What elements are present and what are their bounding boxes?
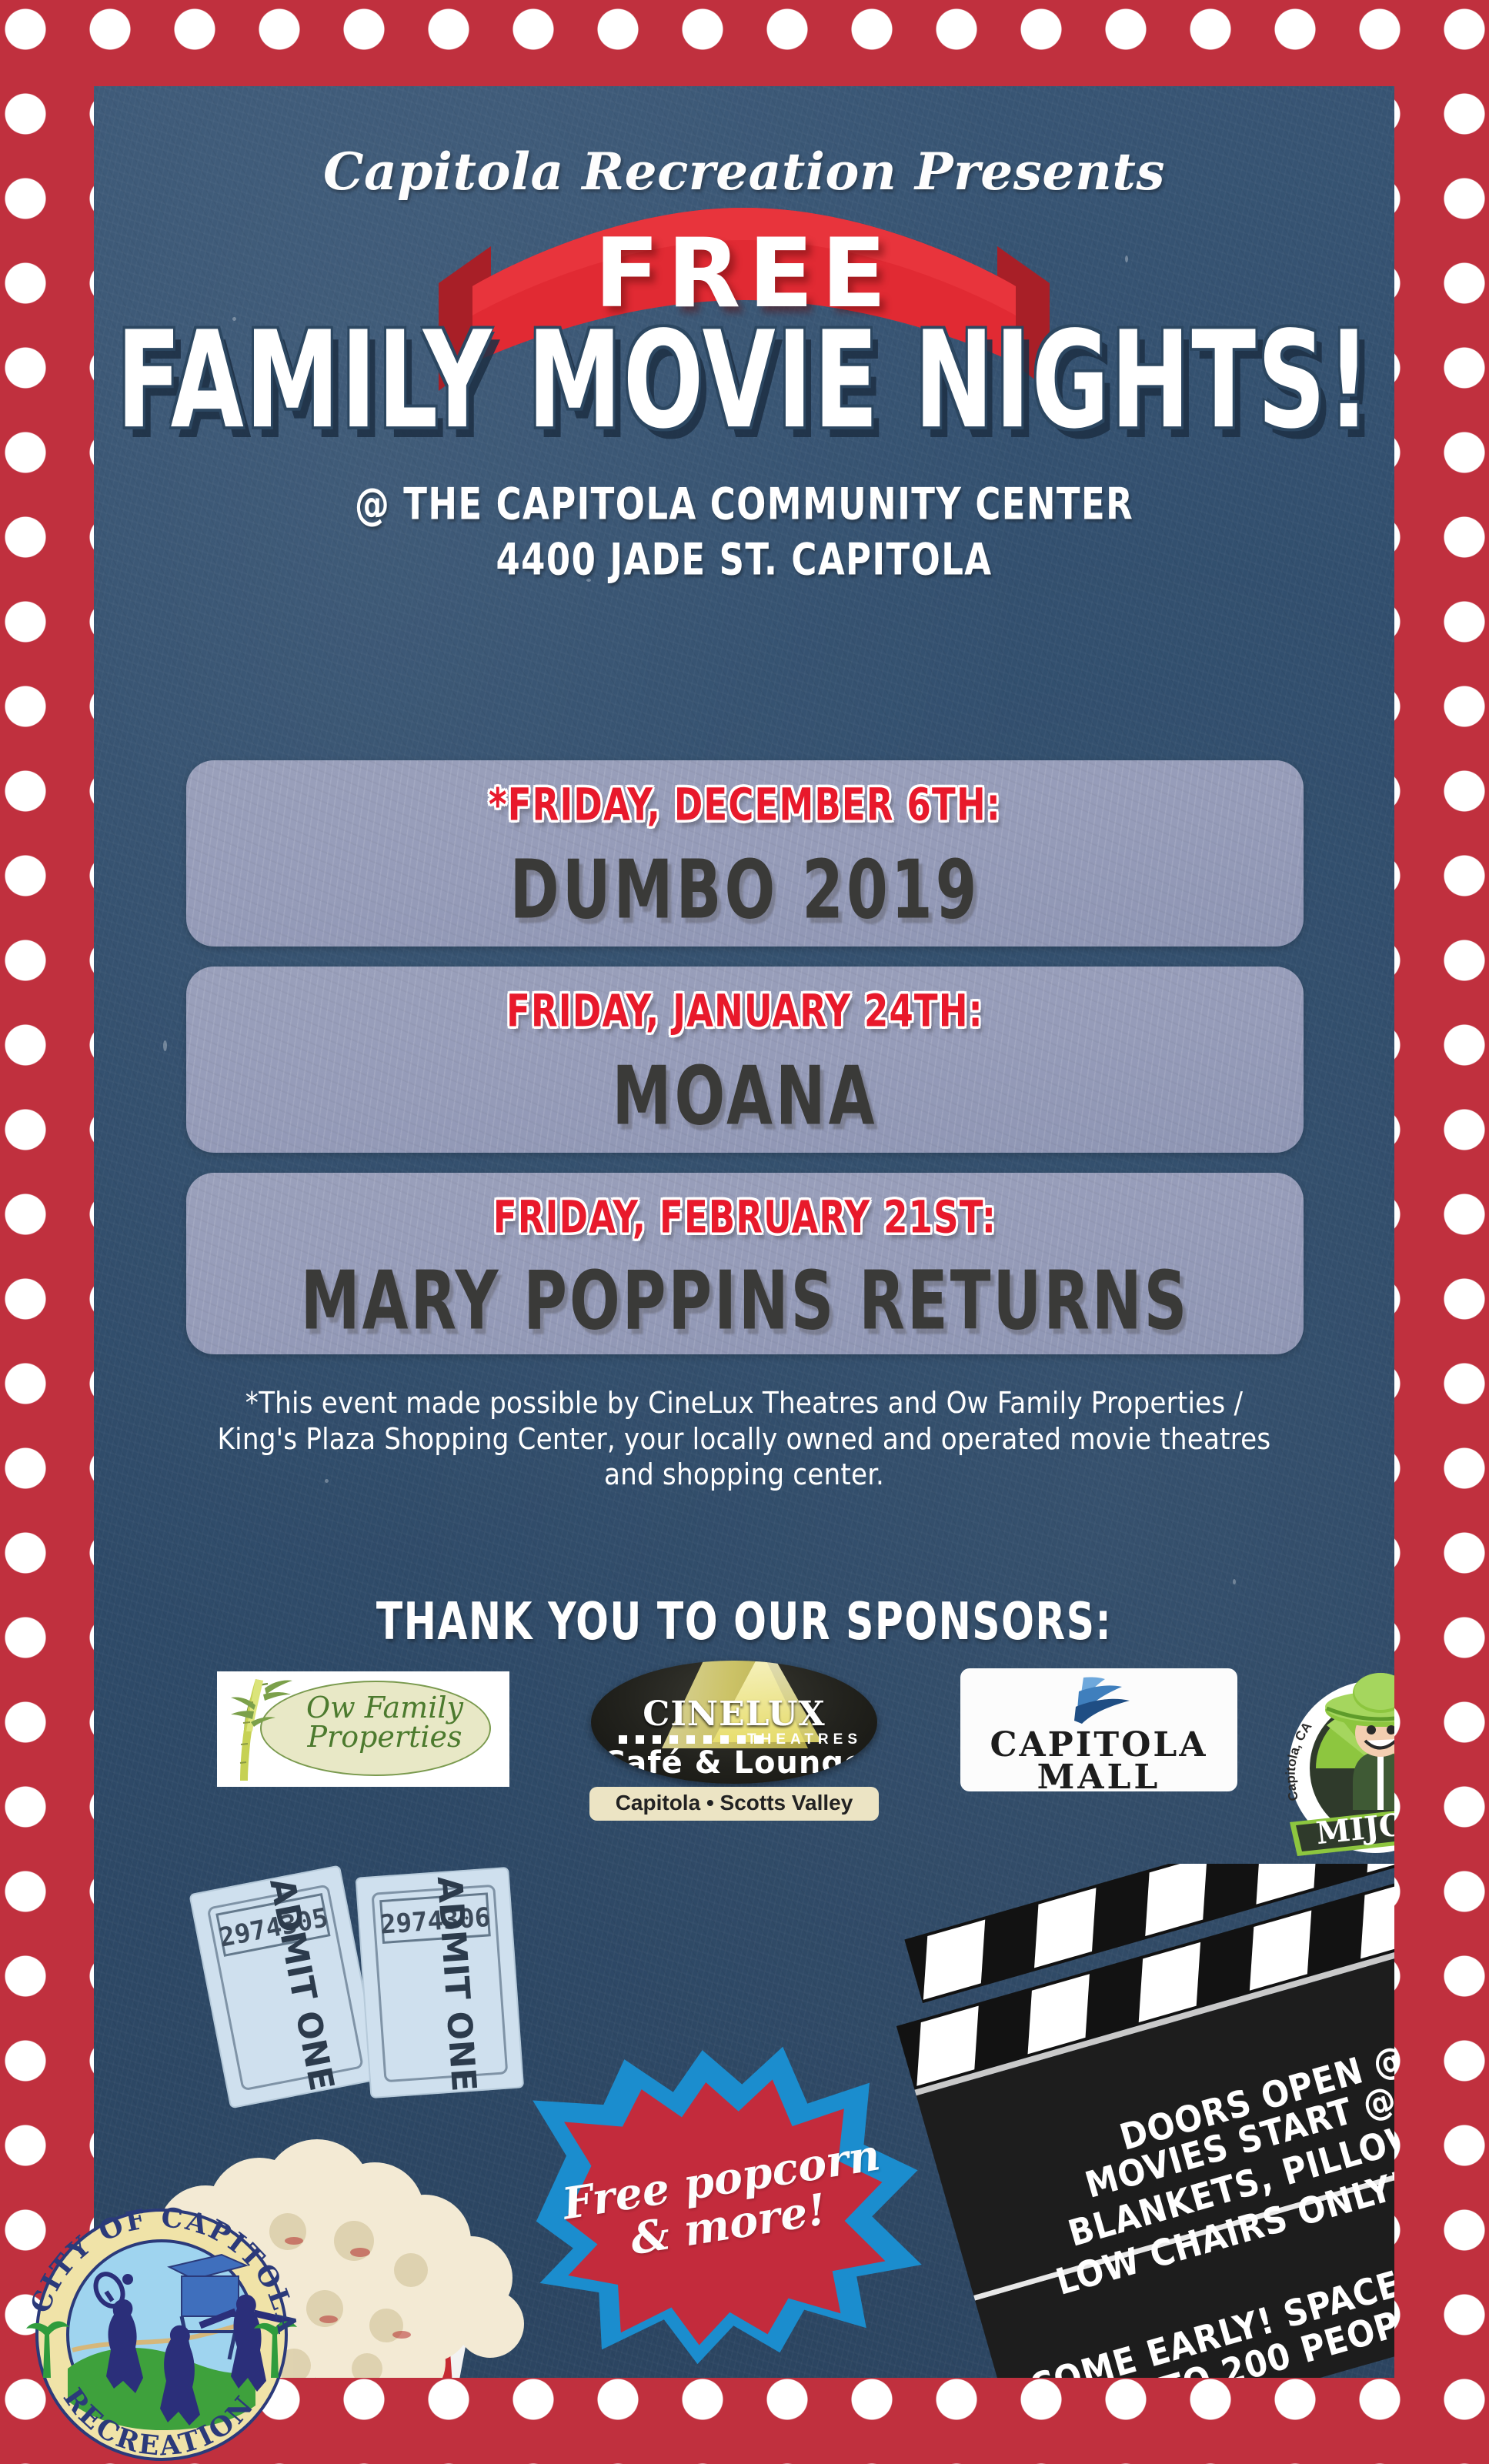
- mijos-badge-icon: MIJO'S Capitola, CA: [1279, 1659, 1394, 1867]
- sponsor-footnote: *This event made possible by CineLux The…: [205, 1385, 1283, 1493]
- cinelux-cities: Capitola • Scotts Valley: [589, 1787, 879, 1821]
- cinelux-cafe-label: Café & Lounge: [591, 1745, 877, 1781]
- movie-title: DUMBO 2019: [217, 843, 1273, 937]
- venue-block: @ THE CAPITOLA COMMUNITY CENTER 4400 JAD…: [94, 477, 1394, 588]
- movie-title: MOANA: [217, 1050, 1273, 1144]
- footnote-marker: *: [489, 779, 508, 830]
- movie-card[interactable]: FRIDAY, FEBRUARY 21ST: MARY POPPINS RETU…: [186, 1173, 1304, 1354]
- mall-line-2: MALL: [960, 1758, 1237, 1797]
- movie-date: FRIDAY, JANUARY 24TH:: [217, 985, 1273, 1037]
- film-perforation-icon: [619, 1735, 765, 1744]
- movie-poster: Capitola Recreation Presents FREE FAMILY…: [0, 0, 1489, 2464]
- movie-date-text: FRIDAY, DECEMBER 6TH:: [508, 779, 1001, 830]
- sponsor-logos: Ow Family Properties CINELUX THEATRES Ca…: [202, 1665, 1394, 1873]
- movie-card[interactable]: FRIDAY, JANUARY 24TH: MOANA: [186, 967, 1304, 1153]
- poster-panel: Capitola Recreation Presents FREE FAMILY…: [94, 86, 1394, 2378]
- clapperboard: DOORS OPEN @ 6 PM MOVIES START @ 6:30 PM…: [856, 1864, 1394, 2378]
- cinelux-oval: CINELUX THEATRES Café & Lounge: [591, 1661, 877, 1784]
- presents-line: Capitola Recreation Presents: [94, 142, 1394, 202]
- mall-swoosh-icon: [1059, 1676, 1143, 1724]
- free-popcorn-burst: Free popcorn & more!: [525, 2041, 925, 2364]
- movie-date-text: FRIDAY, JANUARY 24TH:: [506, 985, 983, 1037]
- city-of-capitola-recreation-seal: CITY OF CAPITOLA RECREATION: [15, 2199, 308, 2464]
- movie-date-text: FRIDAY, FEBRUARY 21ST:: [493, 1191, 997, 1243]
- movie-card[interactable]: *FRIDAY, DECEMBER 6TH: DUMBO 2019: [186, 760, 1304, 947]
- movie-title: MARY POPPINS RETURNS: [209, 1254, 1280, 1348]
- movie-schedule-list: *FRIDAY, DECEMBER 6TH: DUMBO 2019 FRIDAY…: [186, 760, 1304, 1354]
- venue-line-1: @ THE CAPITOLA COMMUNITY CENTER: [94, 477, 1394, 533]
- cinelux-logo[interactable]: CINELUX THEATRES Café & Lounge Capitola …: [585, 1653, 885, 1819]
- mijos-logo[interactable]: MIJO'S Capitola, CA: [1279, 1659, 1394, 1867]
- clapperboard-shape: [856, 1864, 1394, 2378]
- burst-shape: [525, 2041, 925, 2364]
- cinelux-name: CINELUX: [591, 1694, 877, 1734]
- venue-line-2: 4400 JADE ST. CAPITOLA: [94, 533, 1394, 588]
- sponsors-heading: THANK YOU TO OUR SPONSORS:: [94, 1592, 1394, 1652]
- capitola-mall-logo[interactable]: CAPITOLA MALL: [960, 1668, 1237, 1791]
- ow-line-2: Properties: [277, 1722, 492, 1751]
- movie-date: FRIDAY, FEBRUARY 21ST:: [209, 1191, 1280, 1243]
- ow-line-1: Ow Family: [277, 1693, 492, 1722]
- ow-logo-text: Ow Family Properties: [277, 1693, 492, 1751]
- ow-family-properties-logo[interactable]: Ow Family Properties: [217, 1671, 509, 1787]
- movie-date: *FRIDAY, DECEMBER 6TH:: [217, 779, 1273, 830]
- page-title: FAMILY MOVIE NIGHTS!: [100, 314, 1387, 448]
